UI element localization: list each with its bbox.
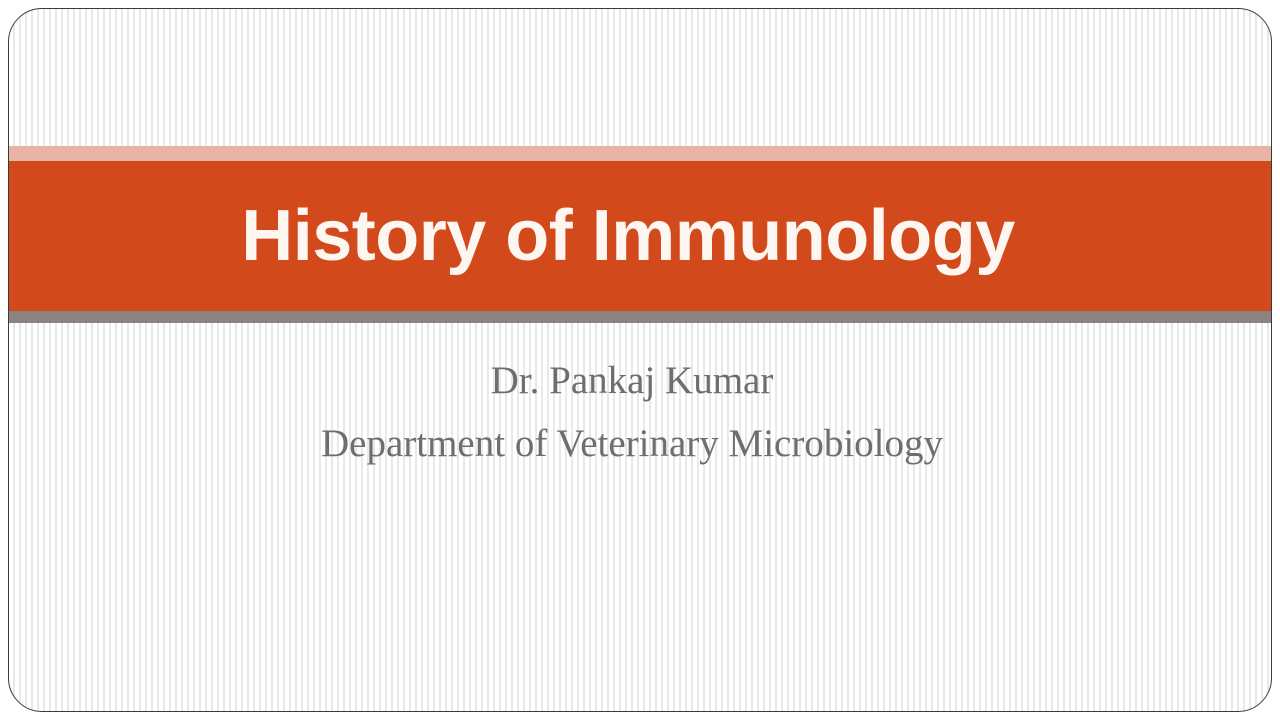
presentation-canvas: History of Immunology Dr. Pankaj Kumar D…	[0, 0, 1280, 720]
title-container: History of Immunology	[9, 161, 1271, 311]
subtitle-container: Dr. Pankaj Kumar Department of Veterinar…	[9, 349, 1271, 475]
accent-strip-top	[9, 146, 1271, 161]
subtitle-line-presenter: Dr. Pankaj Kumar	[9, 349, 1255, 412]
slide-title: History of Immunology	[241, 200, 1015, 272]
accent-strip-bottom	[9, 311, 1271, 323]
subtitle-line-department: Department of Veterinary Microbiology	[9, 412, 1255, 475]
slide-surface: History of Immunology Dr. Pankaj Kumar D…	[8, 8, 1272, 712]
